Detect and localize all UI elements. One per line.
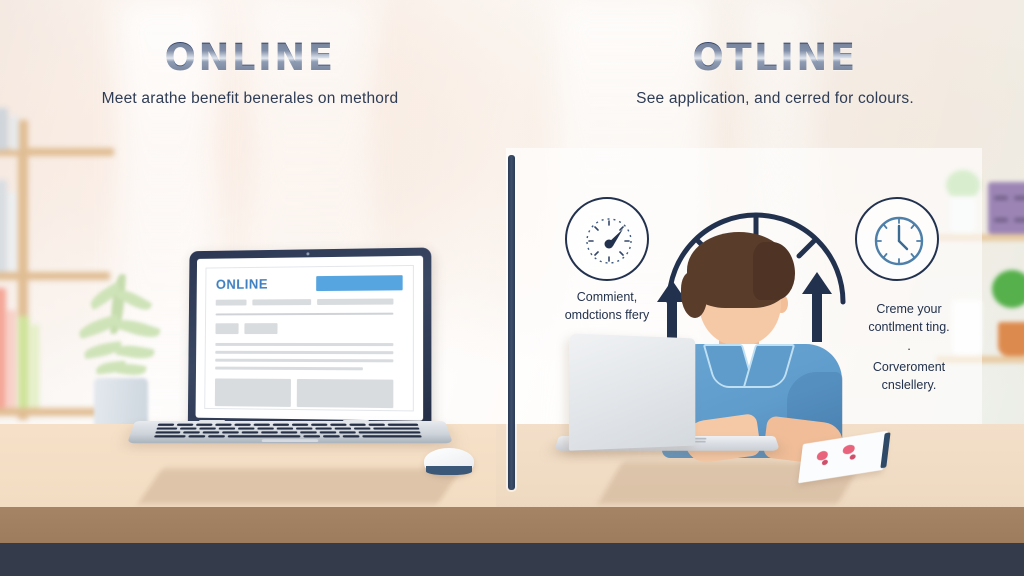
callout-right-line-1: Creme your contlment ting.	[868, 302, 949, 334]
laptop-left: ONLINE	[135, 249, 445, 479]
left-heading-block: ONLINE Meet arathe benefit benerales on …	[30, 36, 470, 108]
callout-right: Creme your contlment ting. . Corveroment…	[855, 300, 963, 394]
infographic-stage: ONLINE Meet arathe benefit benerales on …	[0, 0, 1024, 576]
storage-box	[988, 182, 1024, 234]
laptop-lid: ONLINE	[188, 247, 432, 433]
webpage-mockup: ONLINE	[204, 265, 414, 412]
laptop-right	[567, 336, 767, 466]
subtitle-left: Meet arathe benefit benerales on methord	[30, 90, 470, 108]
right-heading-block: OTLINE See application, and cerred for c…	[560, 36, 990, 108]
laptop-screen: ONLINE	[196, 256, 424, 421]
callout-right-line-2: Corveroment cnslellery.	[873, 360, 945, 392]
laptop-keyboard[interactable]	[154, 424, 426, 438]
webpage-heading: ONLINE	[216, 277, 268, 292]
computer-mouse[interactable]	[424, 448, 474, 475]
webcam-icon	[306, 252, 309, 255]
webpage-blue-banner	[316, 275, 403, 291]
laptop-right-lid	[569, 333, 695, 450]
laptop-base	[127, 421, 453, 443]
callout-right-separator: .	[855, 339, 963, 353]
subtitle-right: See application, and cerred for colours.	[560, 90, 990, 108]
desk-edge	[0, 507, 1024, 544]
callout-left: Commient, omdctions ffery	[556, 288, 658, 324]
laptop-trackpad[interactable]	[262, 439, 319, 442]
speedometer-icon	[565, 197, 649, 281]
page-title-left: ONLINE	[30, 36, 470, 79]
vertical-divider	[508, 155, 515, 490]
page-title-right: OTLINE	[560, 36, 990, 79]
floor-band	[0, 543, 1024, 576]
clock-icon	[855, 197, 939, 281]
